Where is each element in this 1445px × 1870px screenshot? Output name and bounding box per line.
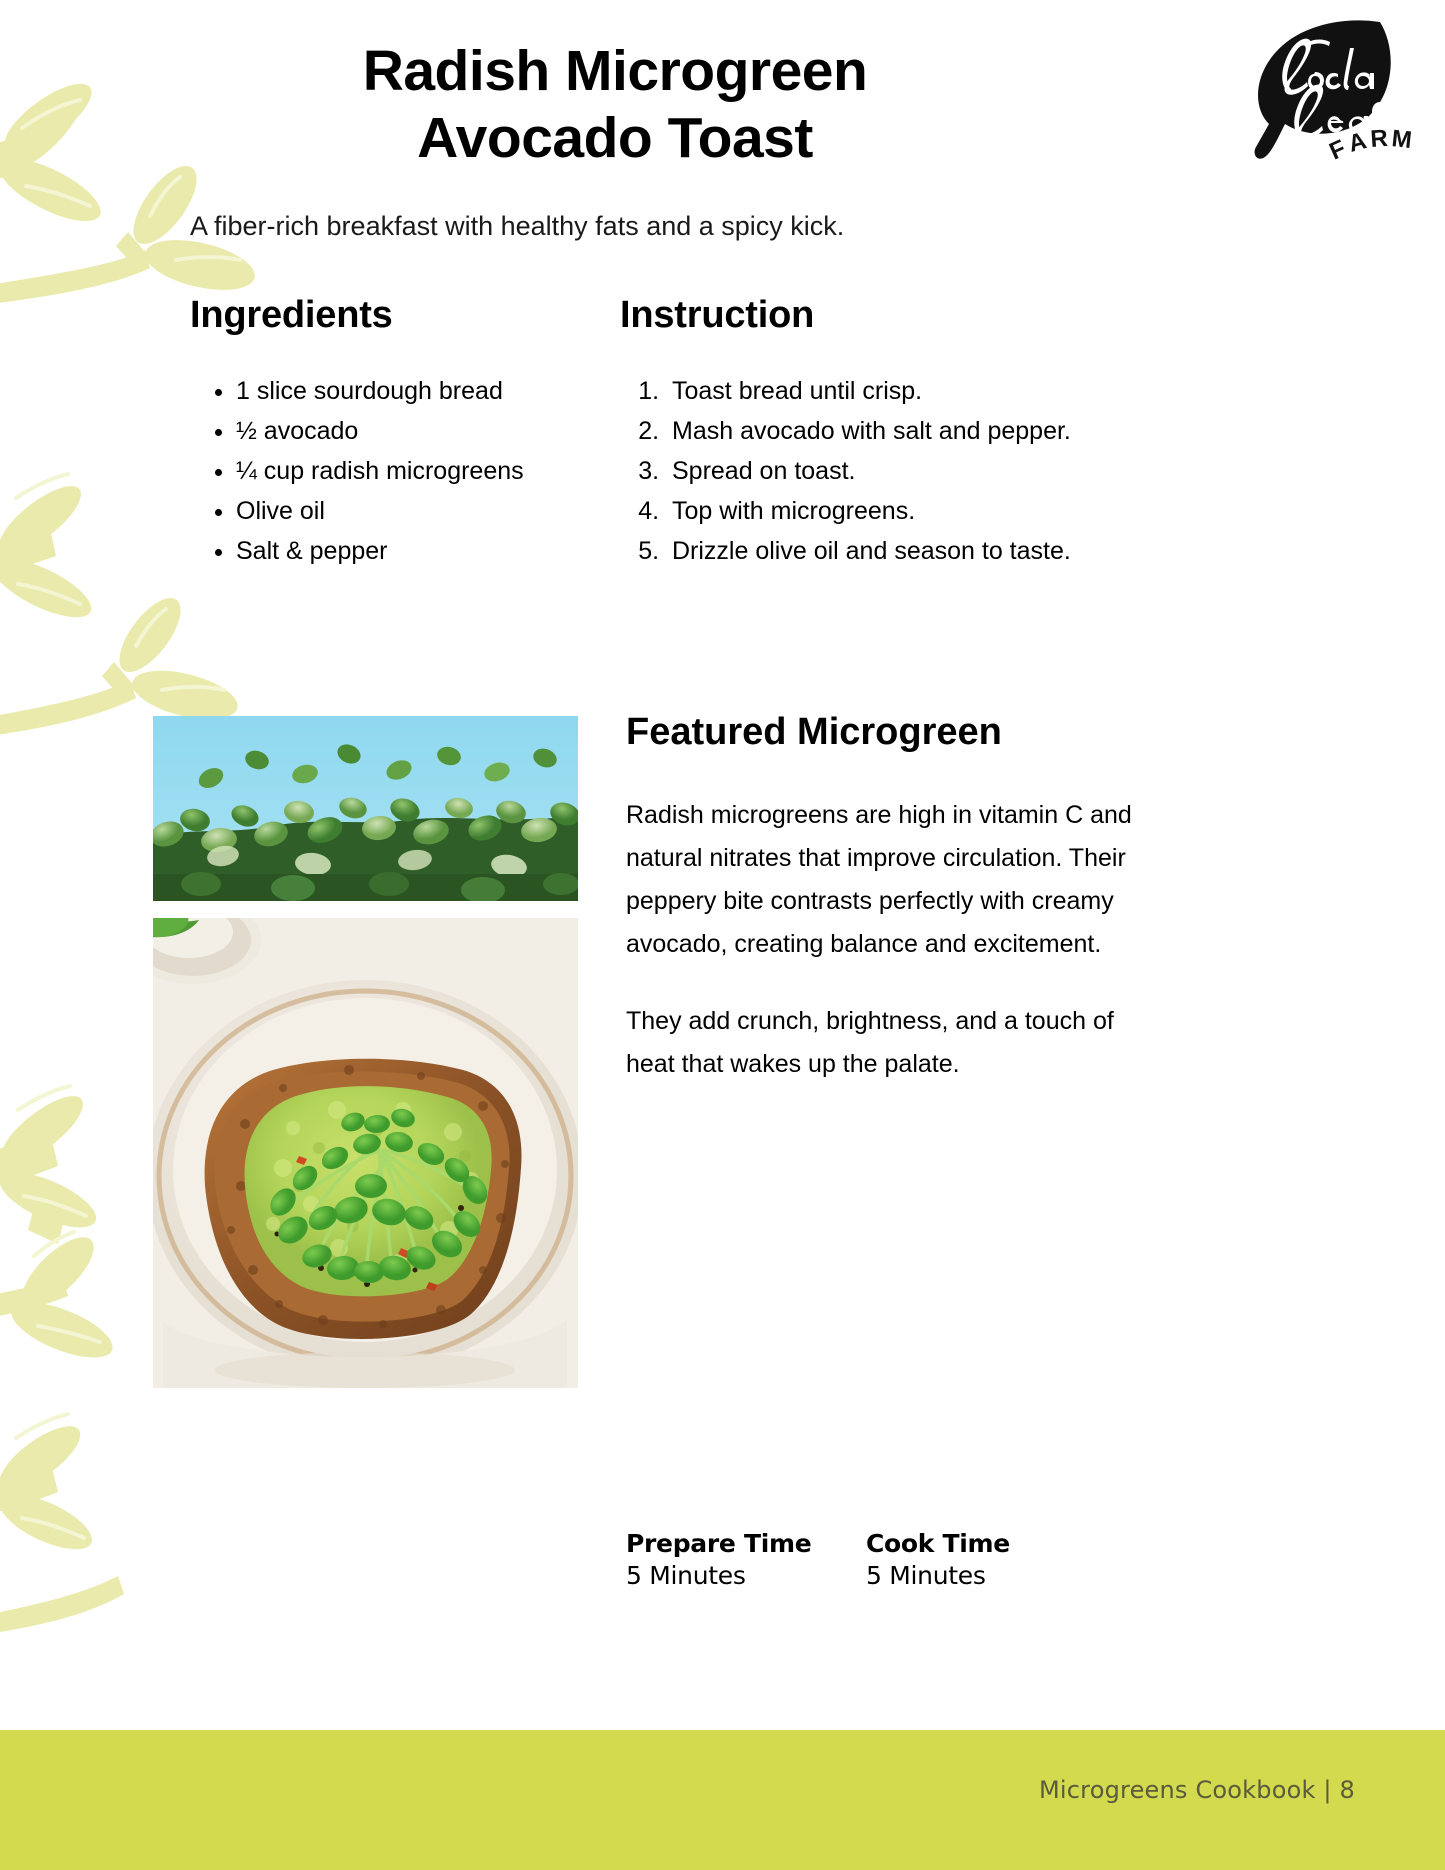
instruction-section: Instruction Toast bread until crisp. Mas… [620,295,1180,571]
footer-text: Microgreens Cookbook | 8 [1039,1776,1355,1804]
featured-paragraph-2: They add crunch, brightness, and a touch… [626,1000,1166,1086]
page-footer: Microgreens Cookbook | 8 [0,1730,1445,1870]
recipe-title-line-1: Radish Microgreen [210,38,1020,105]
list-item: Salt & pepper [236,531,580,571]
microgreens-photo [153,716,578,901]
avocado-toast-photo [153,918,578,1388]
recipe-title-line-2: Avocado Toast [210,105,1020,172]
prepare-time-label: Prepare Time [626,1528,814,1559]
list-item: Drizzle olive oil and season to taste. [666,531,1180,571]
recipe-page: F A R M Radish Microgreen Avocado Toast … [0,0,1445,1870]
recipe-title: Radish Microgreen Avocado Toast [210,38,1020,173]
list-item: ½ avocado [236,411,580,451]
prepare-time-block: Prepare Time 5 Minutes [626,1528,814,1593]
featured-heading: Featured Microgreen [626,712,1166,754]
svg-text:M: M [1390,125,1413,154]
cook-time-value: 5 Minutes [866,1559,1054,1593]
svg-text:R: R [1370,125,1389,153]
list-item: Top with microgreens. [666,491,1180,531]
list-item: Toast bread until crisp. [666,371,1180,411]
list-item: 1 slice sourdough bread [236,371,580,411]
recipe-subtitle: A fiber-rich breakfast with healthy fats… [190,208,1090,246]
local-leaf-farm-logo[interactable]: F A R M [1238,12,1413,177]
ingredients-list: 1 slice sourdough bread ½ avocado ¼ cup … [190,371,580,571]
prepare-time-value: 5 Minutes [626,1559,814,1593]
featured-paragraph-1: Radish microgreens are high in vitamin C… [626,794,1166,966]
time-info: Prepare Time 5 Minutes Cook Time 5 Minut… [626,1528,1054,1593]
list-item: Spread on toast. [666,451,1180,491]
cook-time-label: Cook Time [866,1528,1054,1559]
cook-time-block: Cook Time 5 Minutes [866,1528,1054,1593]
featured-microgreen-section: Featured Microgreen Radish microgreens a… [626,712,1166,1120]
svg-text:F: F [1325,135,1349,166]
instruction-list: Toast bread until crisp. Mash avocado wi… [620,371,1180,571]
ingredients-heading: Ingredients [190,295,580,337]
list-item: ¼ cup radish microgreens [236,451,580,491]
list-item: Olive oil [236,491,580,531]
list-item: Mash avocado with salt and pepper. [666,411,1180,451]
instruction-heading: Instruction [620,295,1180,337]
ingredients-section: Ingredients 1 slice sourdough bread ½ av… [190,295,580,571]
